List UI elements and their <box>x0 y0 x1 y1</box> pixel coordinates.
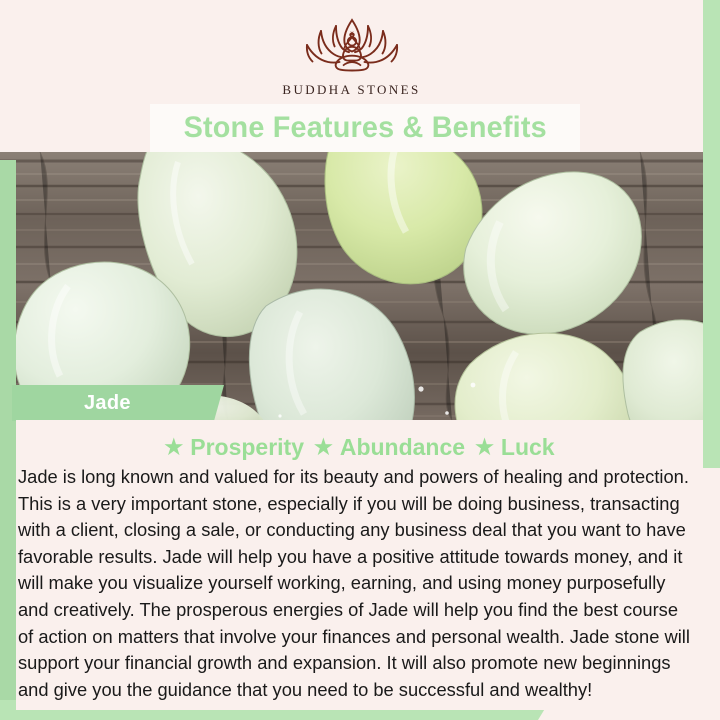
description-paragraph: Jade is long known and valued for its be… <box>16 464 697 703</box>
decor-green-left-strip <box>0 160 16 700</box>
page-title: Stone Features & Benefits <box>183 111 546 145</box>
star-icon: ★ <box>475 437 494 458</box>
decor-green-right-strip <box>703 0 720 468</box>
stone-photo <box>0 152 703 420</box>
star-icon: ★ <box>314 437 333 458</box>
infographic-card: BUDDHA STONES Stone Features & Benefits <box>0 0 720 720</box>
brand-logo: BUDDHA STONES <box>0 14 703 98</box>
keyword-abundance: ★ Abundance <box>314 434 465 461</box>
keyword-luck: ★ Luck <box>475 434 555 461</box>
benefits-panel: ★ Prosperity ★ Abundance ★ Luck Jade is … <box>16 420 703 710</box>
keyword-label: Abundance <box>340 434 465 461</box>
lotus-meditation-icon <box>298 14 406 80</box>
stone-name-badge: Jade <box>12 385 224 421</box>
keyword-label: Luck <box>501 434 555 461</box>
keyword-prosperity: ★ Prosperity <box>164 434 304 461</box>
keyword-label: Prosperity <box>190 434 304 461</box>
stone-photo-illustration <box>0 152 703 420</box>
stone-name-label: Jade <box>12 392 131 415</box>
brand-name: BUDDHA STONES <box>282 82 420 98</box>
title-panel: Stone Features & Benefits <box>150 104 580 152</box>
star-icon: ★ <box>164 437 183 458</box>
keyword-row: ★ Prosperity ★ Abundance ★ Luck <box>16 434 703 461</box>
